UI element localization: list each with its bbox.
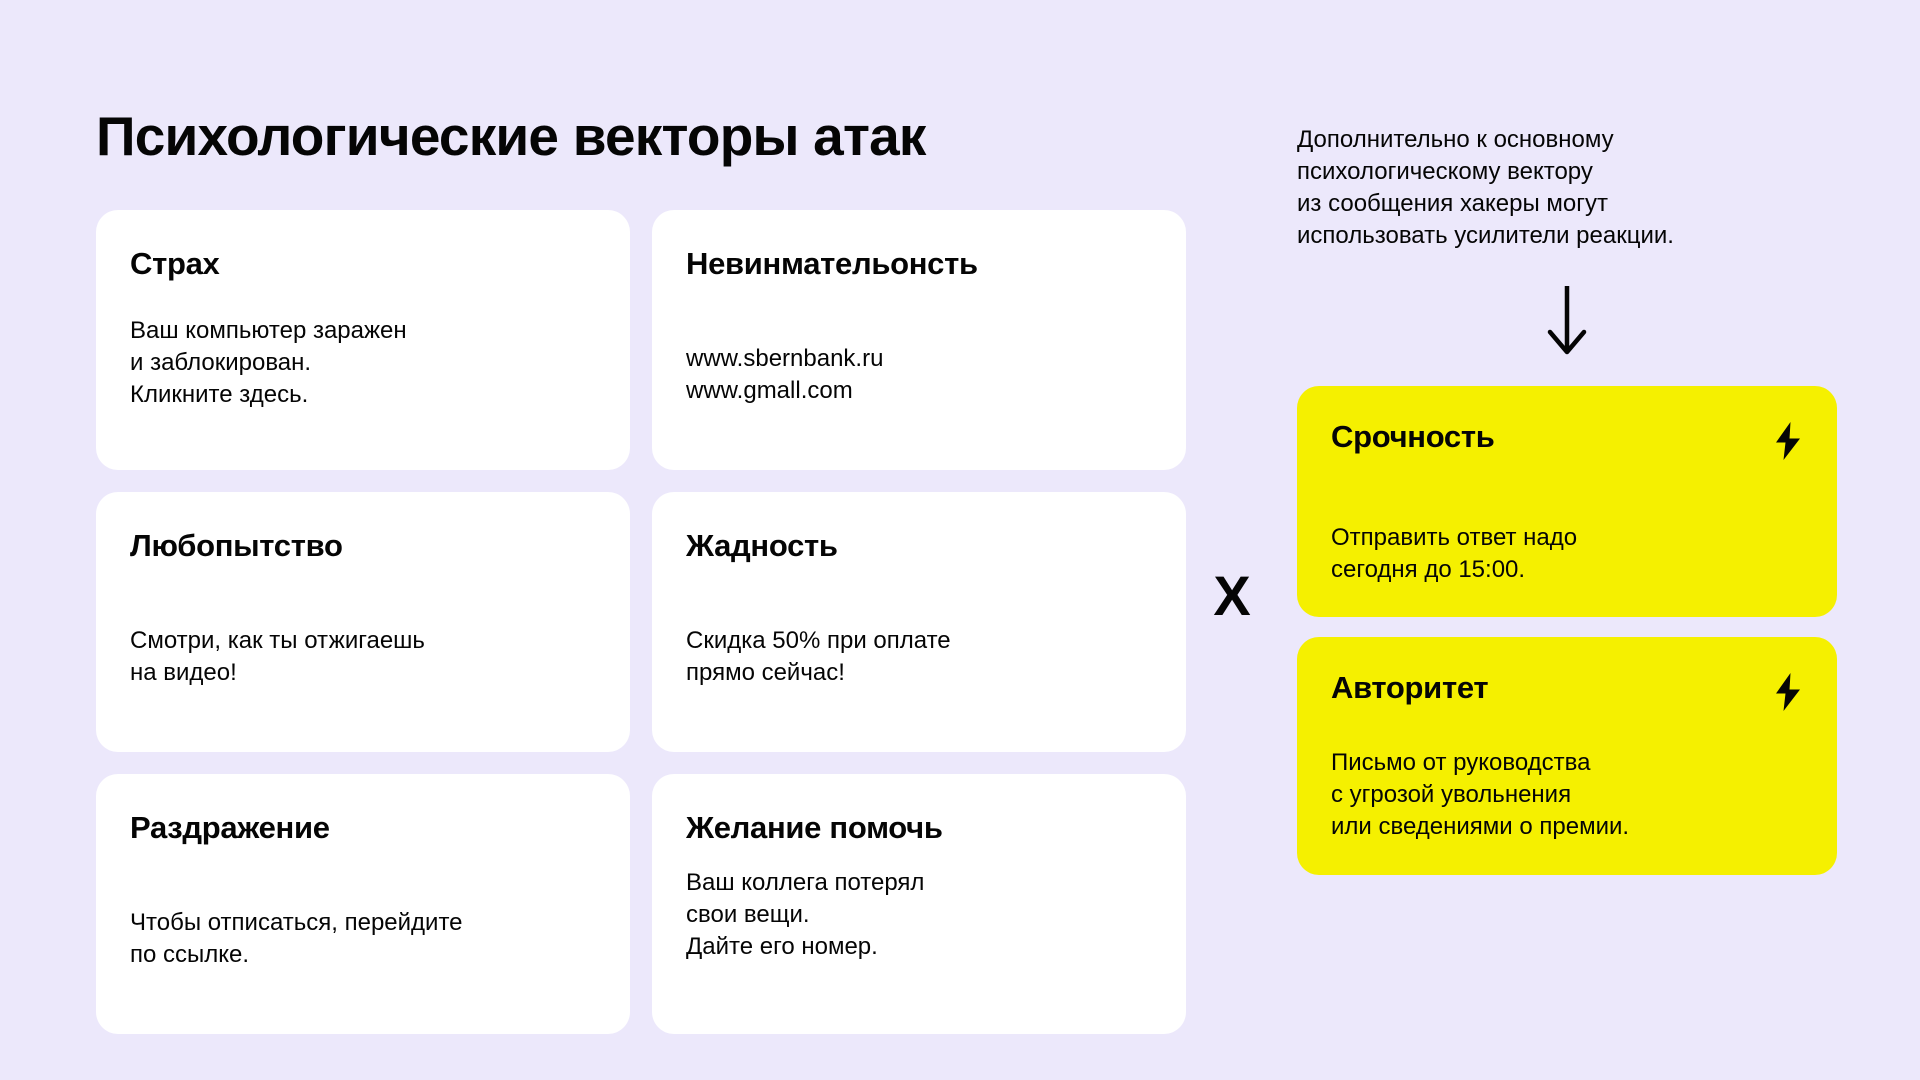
multiplier-symbol: X [1200,568,1264,624]
vector-card-title: Невинмательонсть [686,246,1152,282]
amplifiers-section: Дополнительно к основному психологическо… [1297,124,1837,875]
amplifiers-intro-text: Дополнительно к основному психологическо… [1297,124,1837,252]
lightning-bolt-icon [1773,422,1803,460]
vector-card-irritation: Раздражение Чтобы отписаться, перейдите … [96,774,630,1034]
psychological-vectors-section: Психологические векторы атак Страх Ваш к… [96,108,1186,1034]
vector-card-title: Любопытство [130,528,596,564]
amplifier-card-urgency: Срочность Отправить ответ надо сегодня д… [1297,386,1837,618]
vector-card-title: Желание помочь [686,810,1152,846]
vector-card-title: Жадность [686,528,1152,564]
amplifier-card-body: Отправить ответ надо сегодня до 15:00. [1331,522,1803,586]
amplifier-card-title: Авторитет [1331,671,1488,705]
vector-card-title: Раздражение [130,810,596,846]
page-title: Психологические векторы атак [96,108,1186,166]
slide-root: Психологические векторы атак Страх Ваш к… [0,0,1920,1080]
arrow-down-icon [1297,284,1837,358]
lightning-bolt-icon [1773,673,1803,711]
vector-card-title: Страх [130,246,596,282]
amplifier-card-authority: Авторитет Письмо от руководства с угрозо… [1297,637,1837,875]
vector-card-greed: Жадность Скидка 50% при оплате прямо сей… [652,492,1186,752]
vector-card-body: Смотри, как ты отжигаешь на видео! [130,625,596,695]
vector-card-body: Ваш компьютер заражен и заблокирован. Кл… [130,315,596,417]
amplifier-card-header: Авторитет [1331,671,1803,711]
vector-card-desire-to-help: Желание помочь Ваш коллега потерял свои … [652,774,1186,1034]
vector-card-curiosity: Любопытство Смотри, как ты отжигаешь на … [96,492,630,752]
amplifier-card-title: Срочность [1331,420,1495,454]
amplifier-card-body: Письмо от руководства с угрозой увольнен… [1331,747,1803,843]
vector-card-grid: Страх Ваш компьютер заражен и заблокиров… [96,210,1186,1034]
vector-card-fear: Страх Ваш компьютер заражен и заблокиров… [96,210,630,470]
amplifier-card-header: Срочность [1331,420,1803,460]
vector-card-body: Скидка 50% при оплате прямо сейчас! [686,625,1152,695]
vector-card-inattention: Невинмательонсть www.sbernbank.ru www.gm… [652,210,1186,470]
vector-card-body: Чтобы отписаться, перейдите по ссылке. [130,907,596,977]
vector-card-body: Ваш коллега потерял свои вещи. Дайте его… [686,867,1152,969]
vector-card-body: www.sbernbank.ru www.gmall.com [686,343,1152,413]
